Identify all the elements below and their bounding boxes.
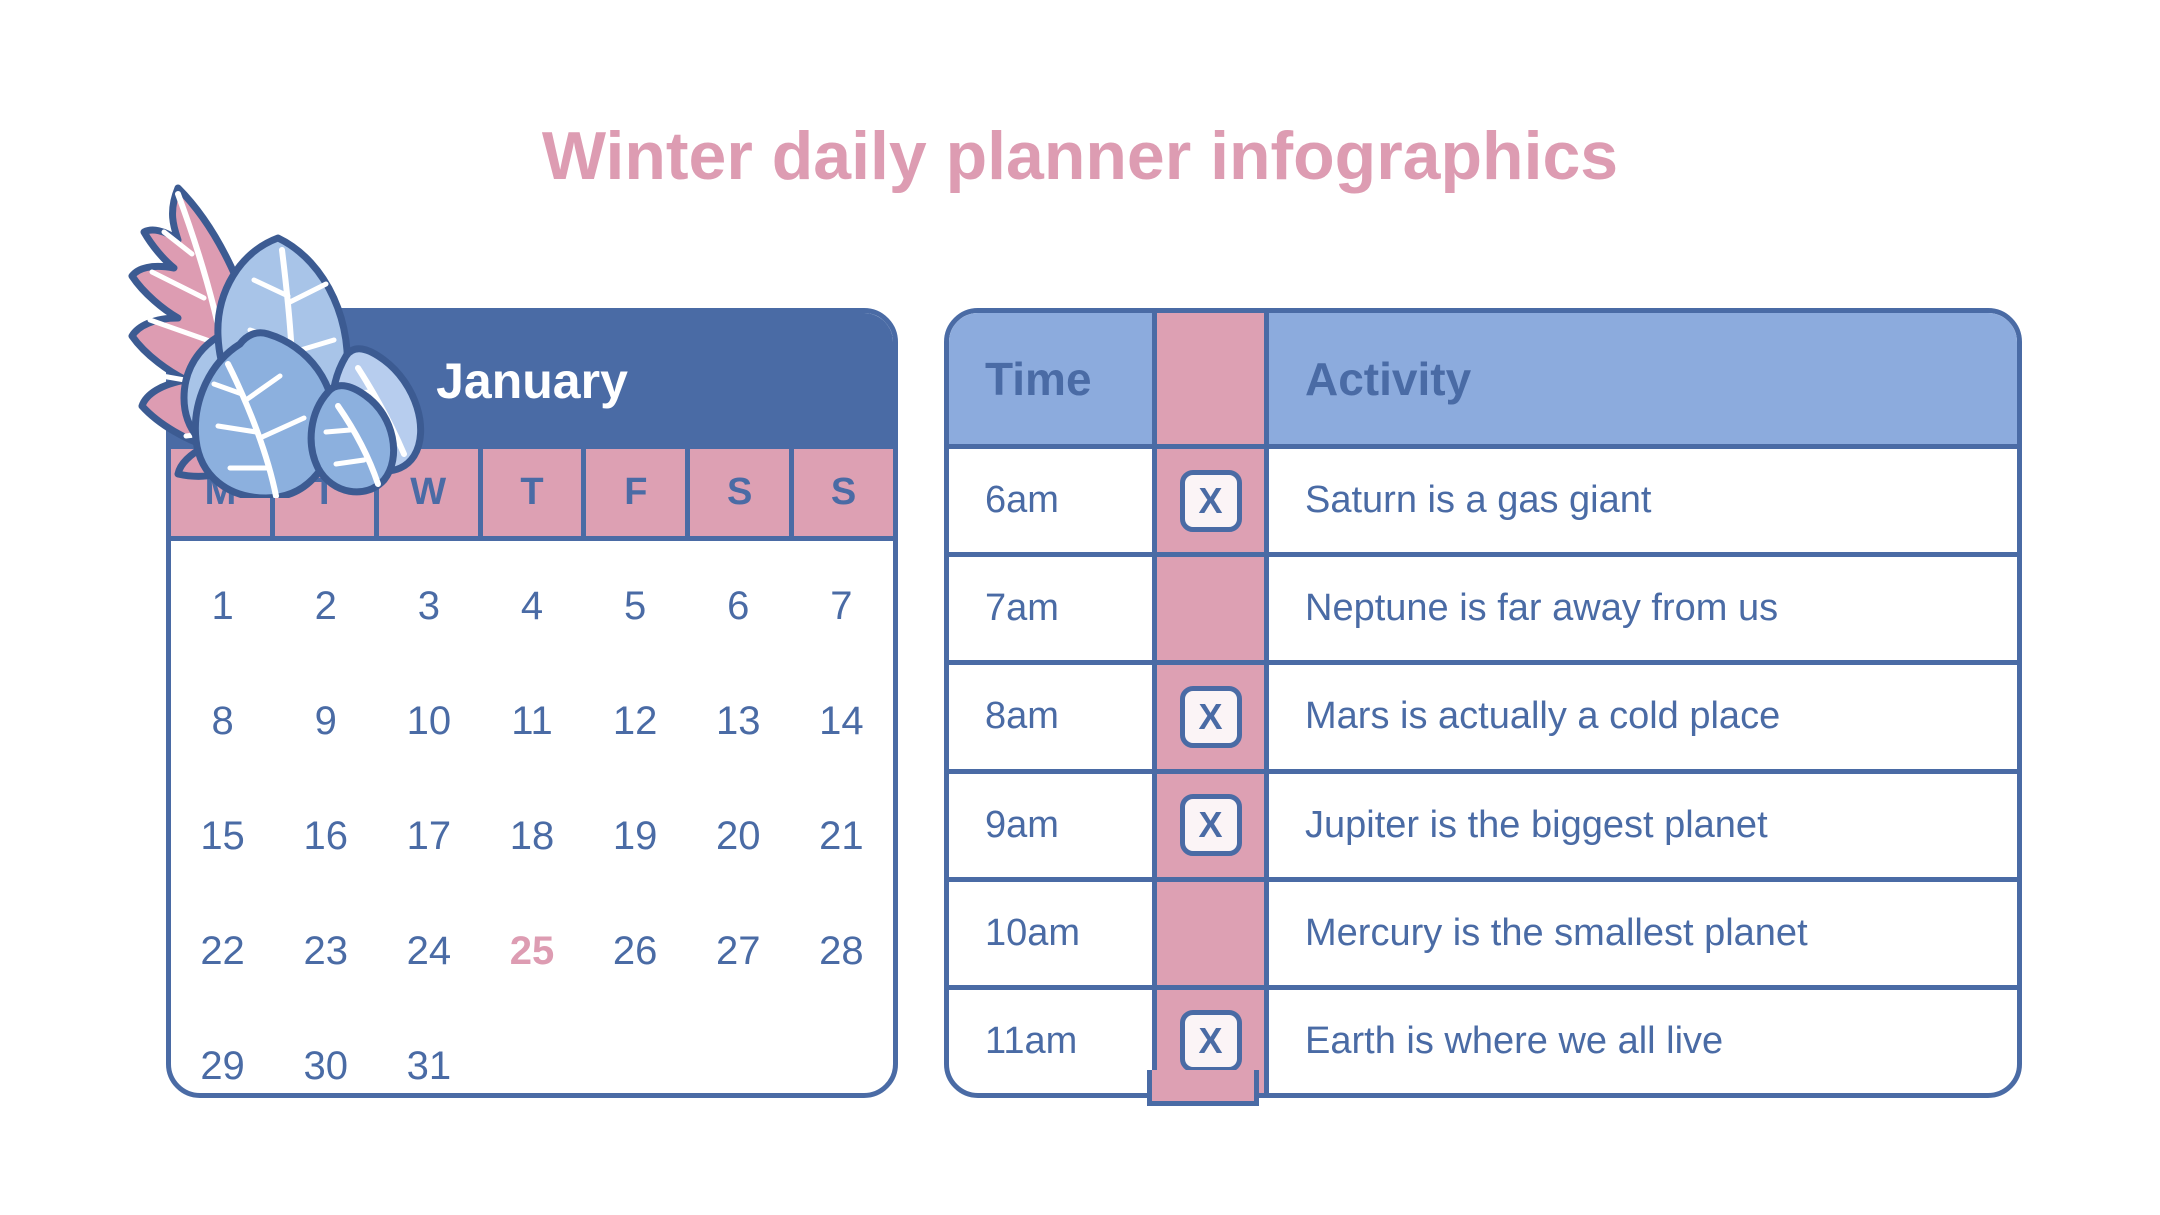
calendar-day-22[interactable]: 22 — [171, 894, 274, 1009]
calendar-day-25[interactable]: 25 — [480, 894, 583, 1009]
calendar-day-10[interactable]: 10 — [377, 664, 480, 779]
checkbox-checked-icon[interactable]: X — [1180, 1010, 1242, 1072]
page-title: Winter daily planner infographics — [0, 122, 2160, 190]
table-row: 8amXMars is actually a cold place — [949, 665, 2017, 773]
calendar-day-empty — [584, 1009, 687, 1098]
row-checkbox-cell[interactable]: X — [1157, 449, 1269, 552]
calendar-weekday-row: MTWTFSS — [171, 449, 893, 541]
checkbox-empty-icon[interactable] — [1180, 902, 1242, 964]
activity-table-card: Time Activity 6amXSaturn is a gas giant7… — [944, 308, 2022, 1098]
calendar-day-29[interactable]: 29 — [171, 1009, 274, 1098]
calendar-day-28[interactable]: 28 — [790, 894, 893, 1009]
row-time: 8am — [949, 665, 1157, 768]
calendar-day-26[interactable]: 26 — [584, 894, 687, 1009]
calendar-day-17[interactable]: 17 — [377, 779, 480, 894]
checkbox-checked-icon[interactable]: X — [1180, 686, 1242, 748]
row-checkbox-cell[interactable]: X — [1157, 665, 1269, 768]
calendar-day-31[interactable]: 31 — [377, 1009, 480, 1098]
checkbox-checked-icon[interactable]: X — [1180, 794, 1242, 856]
row-time: 9am — [949, 774, 1157, 877]
calendar-weekday-0: M — [171, 449, 270, 536]
activity-table: Time Activity 6amXSaturn is a gas giant7… — [949, 313, 2017, 1093]
checkbox-column-overflow-strip — [1147, 1070, 1259, 1106]
calendar-day-13[interactable]: 13 — [687, 664, 790, 779]
calendar-day-12[interactable]: 12 — [584, 664, 687, 779]
row-activity: Saturn is a gas giant — [1269, 449, 2017, 552]
calendar-day-empty — [790, 1009, 893, 1098]
row-checkbox-cell[interactable]: X — [1157, 774, 1269, 877]
calendar-card: January MTWTFSS 123456789101112131415161… — [166, 308, 898, 1098]
calendar-day-23[interactable]: 23 — [274, 894, 377, 1009]
column-header-time: Time — [949, 313, 1157, 444]
checkbox-empty-icon[interactable] — [1180, 578, 1242, 640]
row-time: 7am — [949, 557, 1157, 660]
calendar-day-21[interactable]: 21 — [790, 779, 893, 894]
table-row: 7amNeptune is far away from us — [949, 557, 2017, 665]
calendar-day-empty — [480, 1009, 583, 1098]
calendar-day-19[interactable]: 19 — [584, 779, 687, 894]
calendar-day-20[interactable]: 20 — [687, 779, 790, 894]
calendar-day-7[interactable]: 7 — [790, 549, 893, 664]
table-row: 10amMercury is the smallest planet — [949, 882, 2017, 990]
column-header-checkbox — [1157, 313, 1269, 444]
calendar-day-grid: 1234567891011121314151617181920212223242… — [171, 541, 893, 1098]
calendar-day-9[interactable]: 9 — [274, 664, 377, 779]
table-row: 11amXEarth is where we all live — [949, 990, 2017, 1093]
calendar-weekday-1: T — [275, 449, 374, 536]
calendar-day-1[interactable]: 1 — [171, 549, 274, 664]
row-checkbox-cell[interactable] — [1157, 882, 1269, 985]
calendar-weekday-3: T — [483, 449, 582, 536]
table-row: 9amXJupiter is the biggest planet — [949, 774, 2017, 882]
column-header-activity: Activity — [1269, 313, 2017, 444]
calendar-day-24[interactable]: 24 — [377, 894, 480, 1009]
calendar-day-3[interactable]: 3 — [377, 549, 480, 664]
row-activity: Neptune is far away from us — [1269, 557, 2017, 660]
row-activity: Earth is where we all live — [1269, 990, 2017, 1093]
row-time: 10am — [949, 882, 1157, 985]
calendar-weekday-6: S — [794, 449, 893, 536]
calendar-day-2[interactable]: 2 — [274, 549, 377, 664]
calendar-day-6[interactable]: 6 — [687, 549, 790, 664]
calendar-day-5[interactable]: 5 — [584, 549, 687, 664]
calendar-day-4[interactable]: 4 — [480, 549, 583, 664]
calendar-day-18[interactable]: 18 — [480, 779, 583, 894]
row-activity: Mars is actually a cold place — [1269, 665, 2017, 768]
calendar-day-16[interactable]: 16 — [274, 779, 377, 894]
row-activity: Jupiter is the biggest planet — [1269, 774, 2017, 877]
calendar-day-27[interactable]: 27 — [687, 894, 790, 1009]
calendar-day-empty — [687, 1009, 790, 1098]
calendar-day-30[interactable]: 30 — [274, 1009, 377, 1098]
calendar-day-8[interactable]: 8 — [171, 664, 274, 779]
calendar-weekday-2: W — [379, 449, 478, 536]
calendar-month-header: January — [171, 313, 893, 449]
row-checkbox-cell[interactable] — [1157, 557, 1269, 660]
calendar-day-11[interactable]: 11 — [480, 664, 583, 779]
row-time: 11am — [949, 990, 1157, 1093]
calendar-weekday-5: S — [690, 449, 789, 536]
row-time: 6am — [949, 449, 1157, 552]
table-row: 6amXSaturn is a gas giant — [949, 449, 2017, 557]
row-activity: Mercury is the smallest planet — [1269, 882, 2017, 985]
activity-table-body: 6amXSaturn is a gas giant7amNeptune is f… — [949, 449, 2017, 1093]
calendar-day-15[interactable]: 15 — [171, 779, 274, 894]
calendar-weekday-4: F — [586, 449, 685, 536]
activity-table-header-row: Time Activity — [949, 313, 2017, 449]
calendar-day-14[interactable]: 14 — [790, 664, 893, 779]
checkbox-checked-icon[interactable]: X — [1180, 470, 1242, 532]
